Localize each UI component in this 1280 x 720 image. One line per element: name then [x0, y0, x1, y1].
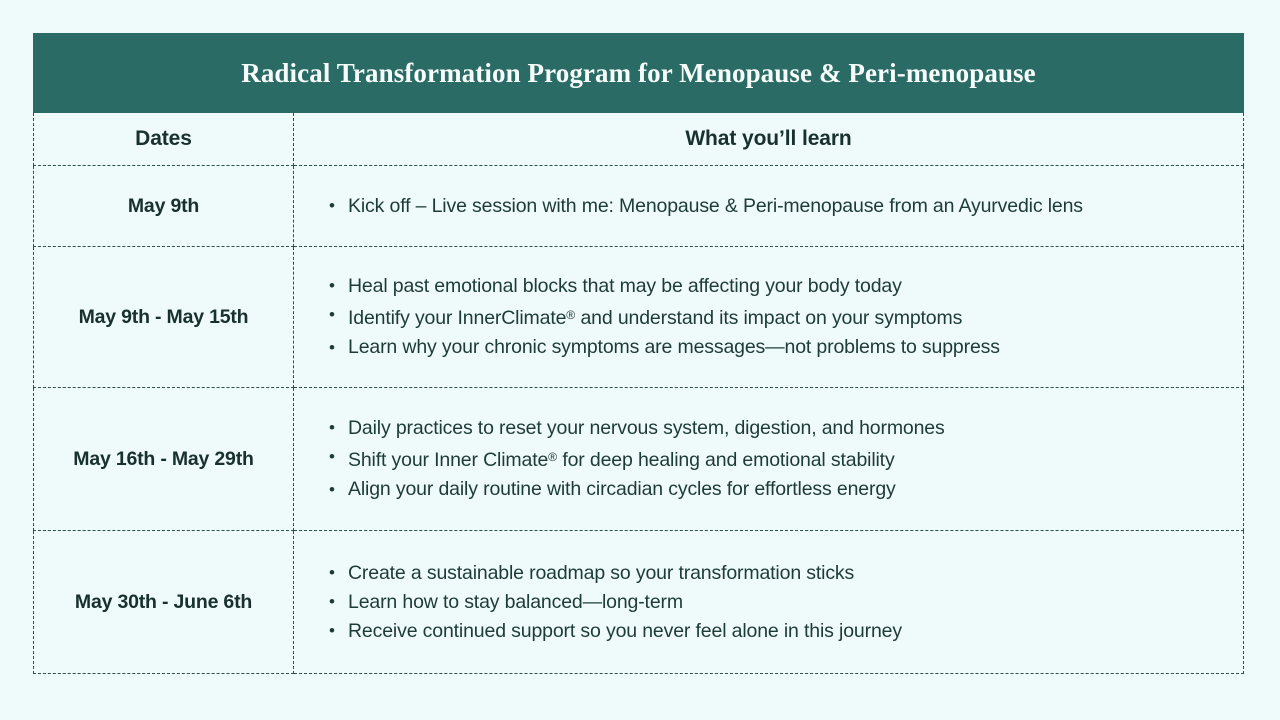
list-item: Heal past emotional blocks that may be a… — [329, 272, 1243, 301]
list-item: Create a sustainable roadmap so your tra… — [329, 559, 1243, 588]
program-title-banner: Radical Transformation Program for Menop… — [34, 34, 1244, 113]
list-item: Receive continued support so you never f… — [329, 617, 1243, 646]
row-dates: May 30th - June 6th — [34, 531, 294, 674]
list-item: Shift your Inner Climate® for deep heali… — [329, 443, 1243, 475]
bullet-list: Create a sustainable roadmap so your tra… — [294, 559, 1243, 646]
registered-trademark-mark: ® — [566, 308, 575, 322]
row-dates: May 16th - May 29th — [34, 388, 294, 531]
list-item: Align your daily routine with circadian … — [329, 475, 1243, 504]
page-title: Radical Transformation Program for Menop… — [34, 57, 1243, 89]
page-root: Radical Transformation Program for Menop… — [0, 0, 1280, 720]
table-title-row: Radical Transformation Program for Menop… — [34, 34, 1244, 113]
bullet-list: Kick off – Live session with me: Menopau… — [294, 192, 1243, 221]
row-dates: May 9th — [34, 166, 294, 247]
bullet-list: Daily practices to reset your nervous sy… — [294, 414, 1243, 504]
list-item: Learn why your chronic symptoms are mess… — [329, 333, 1243, 362]
column-header-learn: What you’ll learn — [294, 113, 1244, 166]
column-header-dates: Dates — [34, 113, 294, 166]
list-item: Daily practices to reset your nervous sy… — [329, 414, 1243, 443]
registered-trademark-mark: ® — [548, 450, 557, 464]
table-row: May 30th - June 6th Create a sustainable… — [34, 531, 1244, 674]
table-row: May 9th - May 15th Heal past emotional b… — [34, 247, 1244, 388]
row-learn: Create a sustainable roadmap so your tra… — [294, 531, 1244, 674]
bullet-list: Heal past emotional blocks that may be a… — [294, 272, 1243, 362]
list-item: Kick off – Live session with me: Menopau… — [329, 192, 1243, 221]
table-row: May 9th Kick off – Live session with me:… — [34, 166, 1244, 247]
row-learn: Daily practices to reset your nervous sy… — [294, 388, 1244, 531]
row-learn: Heal past emotional blocks that may be a… — [294, 247, 1244, 388]
table-row: May 16th - May 29th Daily practices to r… — [34, 388, 1244, 531]
list-item: Learn how to stay balanced—long-term — [329, 588, 1243, 617]
program-schedule-table: Radical Transformation Program for Menop… — [33, 33, 1244, 674]
table-header-row: Dates What you’ll learn — [34, 113, 1244, 166]
row-learn: Kick off – Live session with me: Menopau… — [294, 166, 1244, 247]
list-item: Identify your InnerClimate® and understa… — [329, 301, 1243, 333]
row-dates: May 9th - May 15th — [34, 247, 294, 388]
